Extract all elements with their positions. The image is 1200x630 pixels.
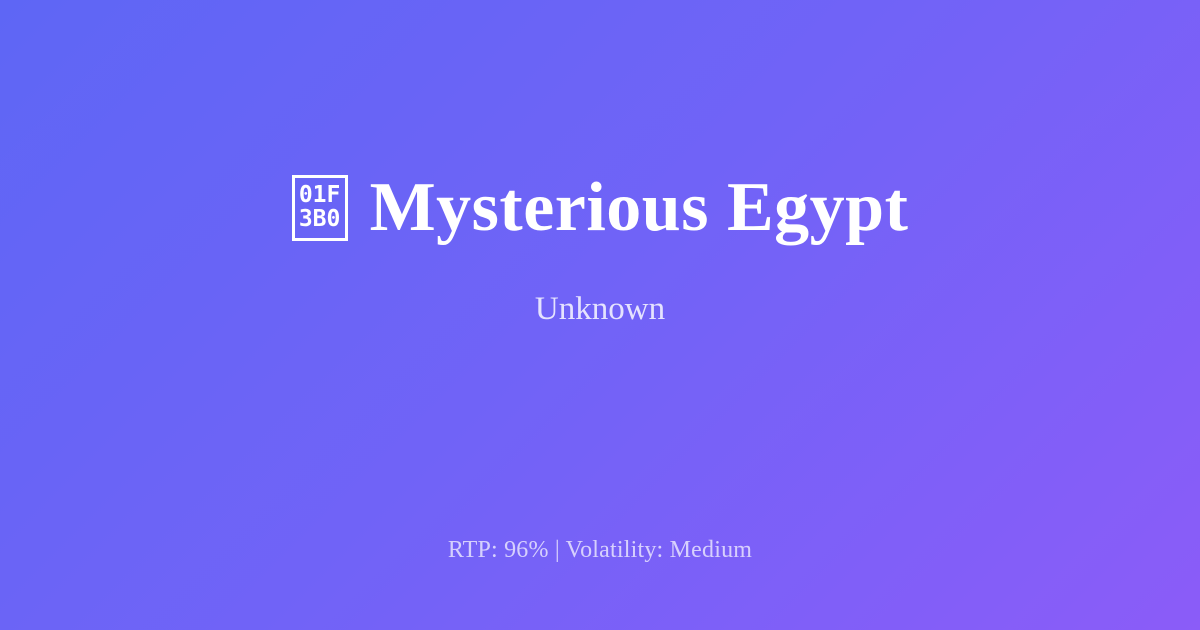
- meta-footer: RTP: 96% | Volatility: Medium: [0, 537, 1200, 564]
- tofu-codepoint-line-2: 3B0: [299, 208, 341, 232]
- hero-section: 01F 3B0 Mysterious Egypt Unknown: [0, 0, 1200, 500]
- tofu-codepoint-line-1: 01F: [299, 184, 341, 208]
- game-meta-line: RTP: 96% | Volatility: Medium: [448, 537, 752, 564]
- title-row: 01F 3B0 Mysterious Egypt: [60, 170, 1140, 246]
- game-title: Mysterious Egypt: [370, 170, 909, 246]
- slot-machine-emoji-tofu-icon: 01F 3B0: [292, 175, 348, 241]
- game-subtitle: Unknown: [535, 290, 665, 330]
- game-preview-card: 01F 3B0 Mysterious Egypt Unknown RTP: 96…: [0, 0, 1200, 630]
